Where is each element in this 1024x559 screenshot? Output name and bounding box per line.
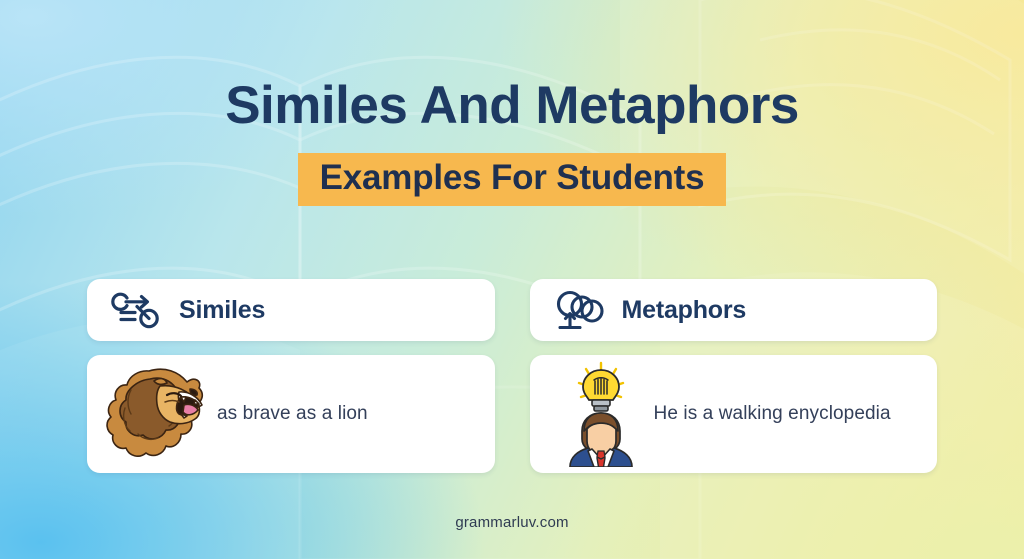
page-subtitle-band: Examples For Students xyxy=(298,153,727,206)
similes-example-text: as brave as a lion xyxy=(217,403,368,425)
column-similes: Similes xyxy=(87,279,495,473)
site-footer: grammarluv.com xyxy=(0,514,1024,531)
similes-example-row: as brave as a lion xyxy=(87,355,495,473)
similes-heading-row: Similes xyxy=(87,279,495,341)
similes-example-card: as brave as a lion xyxy=(87,355,495,473)
compare-arrows-circles-icon xyxy=(111,289,163,331)
businessman-with-lightbulb-illustration xyxy=(562,361,640,467)
header-block: Similes And Metaphors Examples For Stude… xyxy=(0,78,1024,206)
roaring-lion-head-illustration xyxy=(105,364,209,464)
page-title: Similes And Metaphors xyxy=(0,78,1024,134)
metaphors-heading-label: Metaphors xyxy=(622,296,747,325)
similes-heading-label: Similes xyxy=(179,296,265,325)
overlapping-circles-arrow-icon xyxy=(554,289,606,331)
metaphors-heading-row: Metaphors xyxy=(530,279,938,341)
column-metaphors: Metaphors xyxy=(530,279,938,473)
metaphors-example-text: He is a walking enyclopedia xyxy=(654,403,891,425)
metaphors-heading-card: Metaphors xyxy=(530,279,938,341)
similes-heading-card: Similes xyxy=(87,279,495,341)
metaphors-example-card: He is a walking enyclopedia xyxy=(530,355,938,473)
metaphors-example-row: He is a walking enyclopedia xyxy=(530,355,938,473)
poster-canvas: Similes And Metaphors Examples For Stude… xyxy=(0,0,1024,559)
content-columns: Similes xyxy=(87,279,937,473)
